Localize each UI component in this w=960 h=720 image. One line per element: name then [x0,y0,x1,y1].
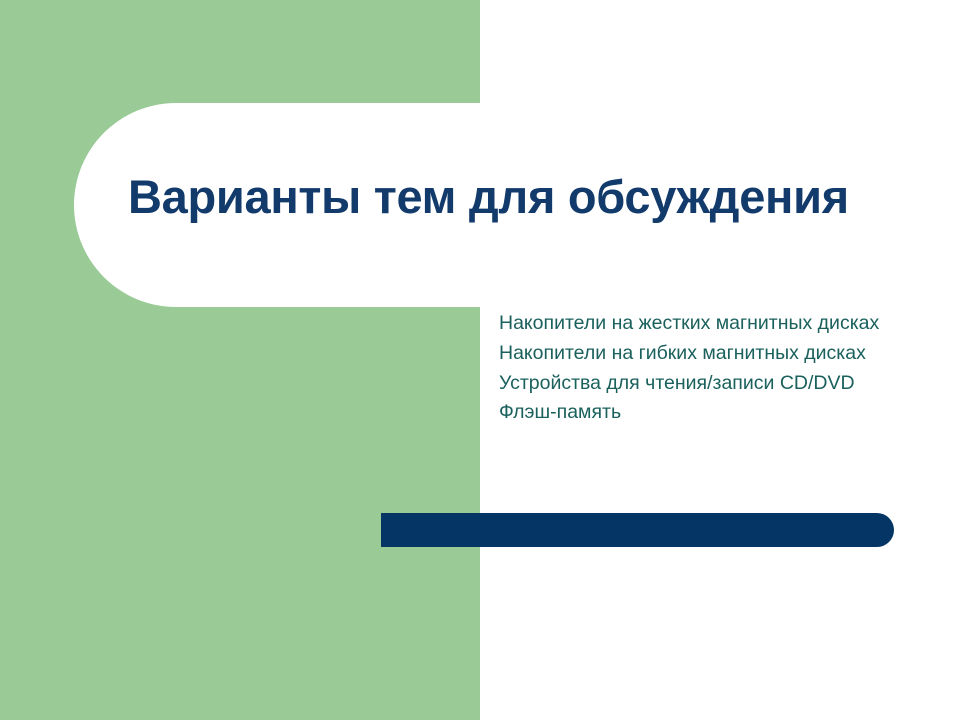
topic-list: Накопители на жестких магнитных дисках Н… [499,313,899,424]
page-title: Варианты тем для обсуждения [128,170,888,224]
list-item: Накопители на гибких магнитных дисках [499,343,899,365]
list-item: Накопители на жестких магнитных дисках [499,313,899,335]
list-item: Устройства для чтения/записи CD/DVD [499,373,899,395]
accent-bar-shape [381,513,894,547]
presentation-slide: Варианты тем для обсуждения Накопители н… [0,0,960,720]
list-item: Флэш-память [499,402,899,424]
